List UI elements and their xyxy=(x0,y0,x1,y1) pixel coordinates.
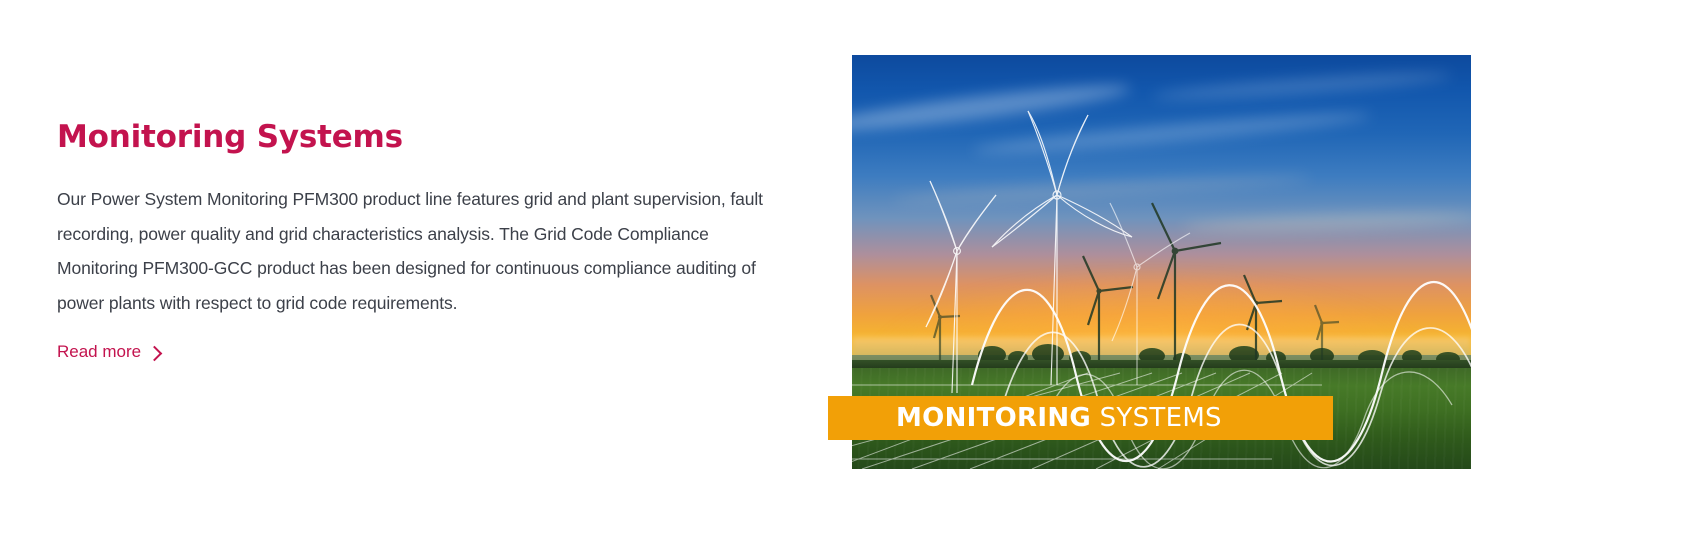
read-more-label: Read more xyxy=(57,341,141,363)
chevron-right-icon xyxy=(147,346,163,362)
read-more-link[interactable]: Read more xyxy=(57,341,160,363)
treeline xyxy=(852,344,1471,368)
image-caption-banner: MONITORING SYSTEMS xyxy=(828,396,1333,440)
wind-turbine xyxy=(1152,203,1221,360)
page-title: Monitoring Systems xyxy=(57,118,787,156)
banner-light-word: SYSTEMS xyxy=(1100,403,1222,433)
promo-section: Monitoring Systems Our Power System Moni… xyxy=(0,0,1693,556)
banner-caption-text: MONITORING SYSTEMS xyxy=(896,403,1222,433)
sine-wave-overlay xyxy=(972,282,1471,469)
wireframe-turbine xyxy=(992,111,1132,385)
section-description: Our Power System Monitoring PFM300 produ… xyxy=(57,156,769,320)
wind-turbine-group xyxy=(931,203,1339,360)
text-column: Monitoring Systems Our Power System Moni… xyxy=(57,118,787,363)
banner-strong-word: MONITORING xyxy=(896,403,1091,433)
